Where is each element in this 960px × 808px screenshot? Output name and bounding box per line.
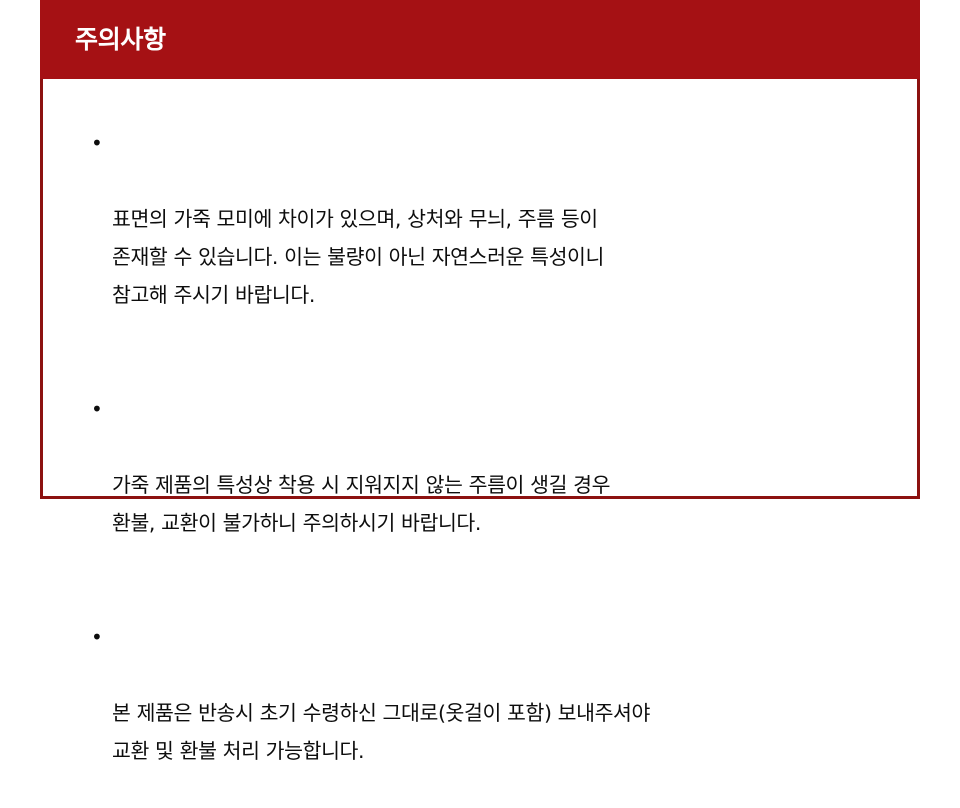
list-item-text: 표면의 가죽 모미에 차이가 있으며, 상처와 무늬, 주름 등이 존재할 수 … [112, 200, 907, 314]
bullet-icon: • [91, 618, 105, 656]
list-item-text: 가죽 제품의 특성상 착용 시 지워지지 않는 주름이 생길 경우 환불, 교환… [112, 466, 907, 542]
bullet-icon: • [91, 124, 105, 162]
list-item-text: 본 제품은 반송시 초기 수령하신 그대로(옷걸이 포함) 보내주셔야 교환 및… [112, 694, 907, 770]
list-item: • 표면의 가죽 모미에 차이가 있으며, 상처와 무늬, 주름 등이 존재할 … [90, 124, 907, 352]
list-item: • 가죽 제품의 특성상 착용 시 지워지지 않는 주름이 생길 경우 환불, … [90, 390, 907, 580]
notice-content-box: • 표면의 가죽 모미에 차이가 있으며, 상처와 무늬, 주름 등이 존재할 … [40, 79, 920, 499]
page-title: 주의사항 [75, 0, 166, 79]
notice-slide: 주의사항 • 표면의 가죽 모미에 차이가 있으며, 상처와 무늬, 주름 등이… [0, 0, 960, 716]
notice-list: • 표면의 가죽 모미에 차이가 있으며, 상처와 무늬, 주름 등이 존재할 … [90, 124, 907, 808]
bullet-icon: • [91, 390, 105, 428]
notice-header-banner: 주의사항 [40, 0, 920, 79]
list-item: • 본 제품은 반송시 초기 수령하신 그대로(옷걸이 포함) 보내주셔야 교환… [90, 618, 907, 808]
